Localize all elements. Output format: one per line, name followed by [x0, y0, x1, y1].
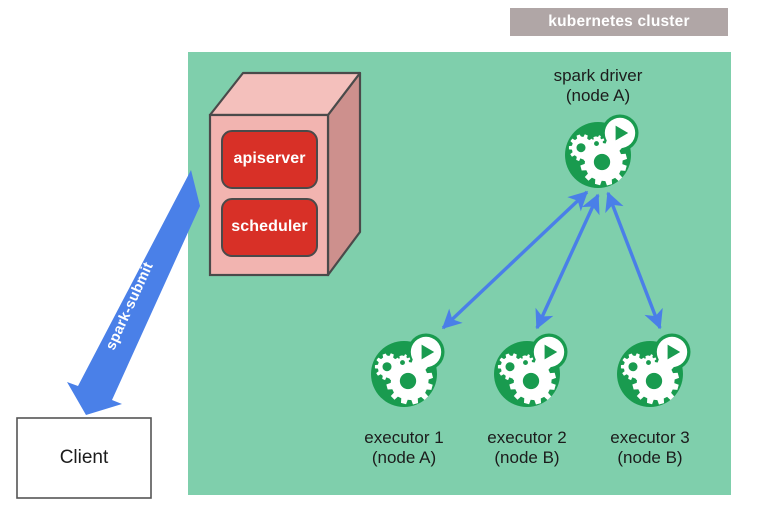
control-plane-cube: [210, 73, 360, 275]
spark-driver-label-line1: spark driver: [528, 66, 668, 86]
spark-driver-label-line2: (node A): [528, 86, 668, 106]
diagram-canvas: kubernetes cluster apiserver scheduler s…: [0, 0, 761, 516]
cluster-banner-label: kubernetes cluster: [510, 13, 728, 31]
executor-2-label-line2: (node B): [462, 448, 592, 468]
executor-3-label-line1: executor 3: [585, 428, 715, 448]
apiserver-label: apiserver: [222, 150, 317, 169]
executor-3-label-line2: (node B): [585, 448, 715, 468]
scheduler-label: scheduler: [222, 218, 317, 237]
executor-1-label-line1: executor 1: [339, 428, 469, 448]
executor-1-label-line2: (node A): [339, 448, 469, 468]
executor-2-label-line1: executor 2: [462, 428, 592, 448]
client-label: Client: [17, 447, 151, 469]
